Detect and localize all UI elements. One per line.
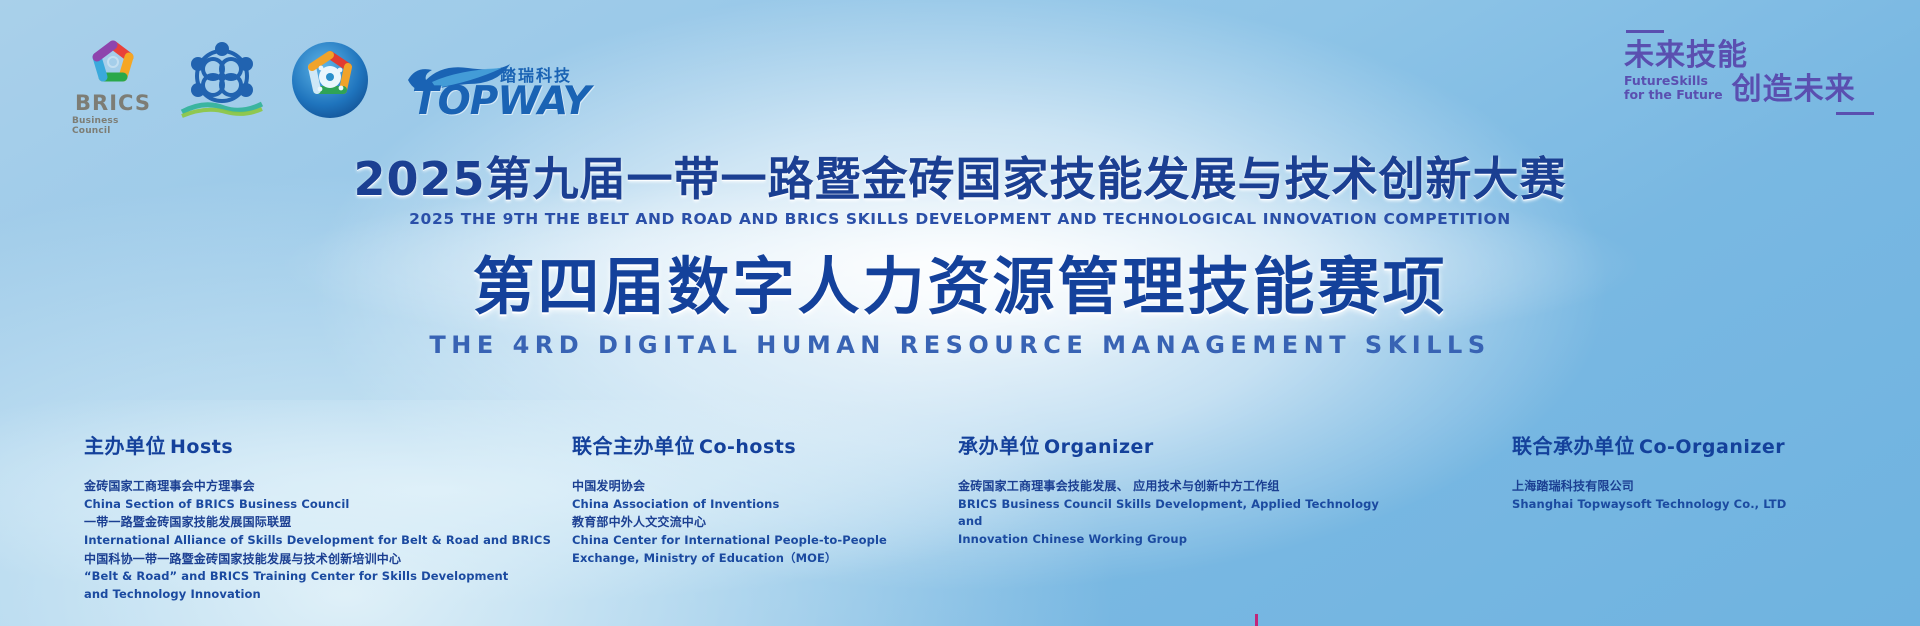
future-skills-en-line1: FutureSkills xyxy=(1624,74,1723,88)
column-body: 金砖国家工商理事会技能发展、 应用技术与创新中方工作组 BRICS Busine… xyxy=(958,477,1388,549)
org-line: 金砖国家工商理事会中方理事会 xyxy=(84,477,554,496)
org-line: 上海踏瑞科技有限公司 xyxy=(1512,477,1912,496)
future-skills-bottom-rule xyxy=(1836,112,1874,115)
org-line: 中国科协一带一路暨金砖国家技能发展与技术创新培训中心 xyxy=(84,550,554,569)
organizer-column-co-organizer: 联合承办单位Co-Organizer 上海踏瑞科技有限公司 Shanghai T… xyxy=(1512,430,1912,513)
organizers-section: 主办单位Hosts 金砖国家工商理事会中方理事会 China Section o… xyxy=(0,430,1920,600)
brics-business-council-logo: BRICS Business Council xyxy=(72,38,154,136)
org-line: International Alliance of Skills Develop… xyxy=(84,532,554,550)
org-line: Shanghai Topwaysoft Technology Co., LTD xyxy=(1512,496,1912,514)
event-subtitle-cn: 第四届数字人力资源管理技能赛项 xyxy=(0,254,1920,319)
org-line: “Belt & Road” and BRICS Training Center … xyxy=(84,568,554,586)
brics-wordmark: BRICS xyxy=(75,93,151,114)
topway-wordmark: TOPWAY xyxy=(412,82,590,121)
logo-row: BRICS Business Council xyxy=(72,38,576,136)
org-line: 中国发明协会 xyxy=(572,477,972,496)
column-heading: 承办单位Organizer xyxy=(958,430,1388,459)
topway-chinese-name: 踏瑞科技 xyxy=(500,62,572,86)
org-line: China Association of Inventions xyxy=(572,496,972,514)
column-heading-en: Organizer xyxy=(1044,436,1154,458)
future-skills-top-rule xyxy=(1626,30,1664,33)
column-heading-cn: 联合承办单位 xyxy=(1512,434,1635,458)
column-heading-en: Co-Organizer xyxy=(1639,436,1785,458)
organizer-column-hosts: 主办单位Hosts 金砖国家工商理事会中方理事会 China Section o… xyxy=(84,430,554,604)
org-line: 一带一路暨金砖国家技能发展国际联盟 xyxy=(84,513,554,532)
organizer-column-co-hosts: 联合主办单位Co-hosts 中国发明协会 China Association … xyxy=(572,430,972,568)
column-body: 中国发明协会 China Association of Inventions 教… xyxy=(572,477,972,568)
future-skills-cn-line1: 未来技能 xyxy=(1624,40,1874,72)
org-line: 教育部中外人文交流中心 xyxy=(572,513,972,532)
competition-title-en: 2025 THE 9TH THE BELT AND ROAD AND BRICS… xyxy=(0,210,1920,228)
column-body: 金砖国家工商理事会中方理事会 China Section of BRICS Bu… xyxy=(84,477,554,604)
org-line: 金砖国家工商理事会技能发展、 应用技术与创新中方工作组 xyxy=(958,477,1388,496)
future-skills-logo: 未来技能 FutureSkills for the Future 创造未来 xyxy=(1624,30,1874,115)
column-heading: 主办单位Hosts xyxy=(84,430,554,459)
column-heading-cn: 主办单位 xyxy=(84,434,166,458)
brics-skills-emblem xyxy=(290,40,370,120)
title-block: 2025第九届一带一路暨金砖国家技能发展与技术创新大赛 2025 THE 9TH… xyxy=(0,155,1920,359)
future-skills-en: FutureSkills for the Future xyxy=(1624,74,1723,106)
column-heading-en: Hosts xyxy=(170,436,233,458)
belt-and-road-skills-alliance-emblem xyxy=(180,42,264,118)
topway-logo: TOPWAY 踏瑞科技 xyxy=(408,60,576,122)
event-subtitle-en: THE 4RD DIGITAL HUMAN RESOURCE MANAGEMEN… xyxy=(0,331,1920,359)
bottom-edge-marker xyxy=(1255,614,1258,626)
org-line: and Technology Innovation xyxy=(84,586,554,604)
org-line: China Center for International People-to… xyxy=(572,532,972,550)
org-line: China Section of BRICS Business Council xyxy=(84,496,554,514)
column-heading-cn: 承办单位 xyxy=(958,434,1040,458)
column-heading: 联合主办单位Co-hosts xyxy=(572,430,972,459)
organizer-column-organizer: 承办单位Organizer 金砖国家工商理事会技能发展、 应用技术与创新中方工作… xyxy=(958,430,1388,549)
org-line: Innovation Chinese Working Group xyxy=(958,531,1388,549)
future-skills-cn-line2: 创造未来 xyxy=(1732,74,1856,106)
org-line: Exchange, Ministry of Education（MOE） xyxy=(572,550,972,568)
poster-canvas: BRICS Business Council xyxy=(0,0,1920,626)
brics-subtitle: Business Council xyxy=(72,116,154,136)
brics-star-icon xyxy=(85,38,141,90)
column-body: 上海踏瑞科技有限公司 Shanghai Topwaysoft Technolog… xyxy=(1512,477,1912,513)
future-skills-en-line2: for the Future xyxy=(1624,88,1723,102)
org-line: BRICS Business Council Skills Developmen… xyxy=(958,496,1388,532)
column-heading-en: Co-hosts xyxy=(699,436,796,458)
competition-title-cn: 2025第九届一带一路暨金砖国家技能发展与技术创新大赛 xyxy=(0,155,1920,203)
column-heading: 联合承办单位Co-Organizer xyxy=(1512,430,1912,459)
column-heading-cn: 联合主办单位 xyxy=(572,434,695,458)
